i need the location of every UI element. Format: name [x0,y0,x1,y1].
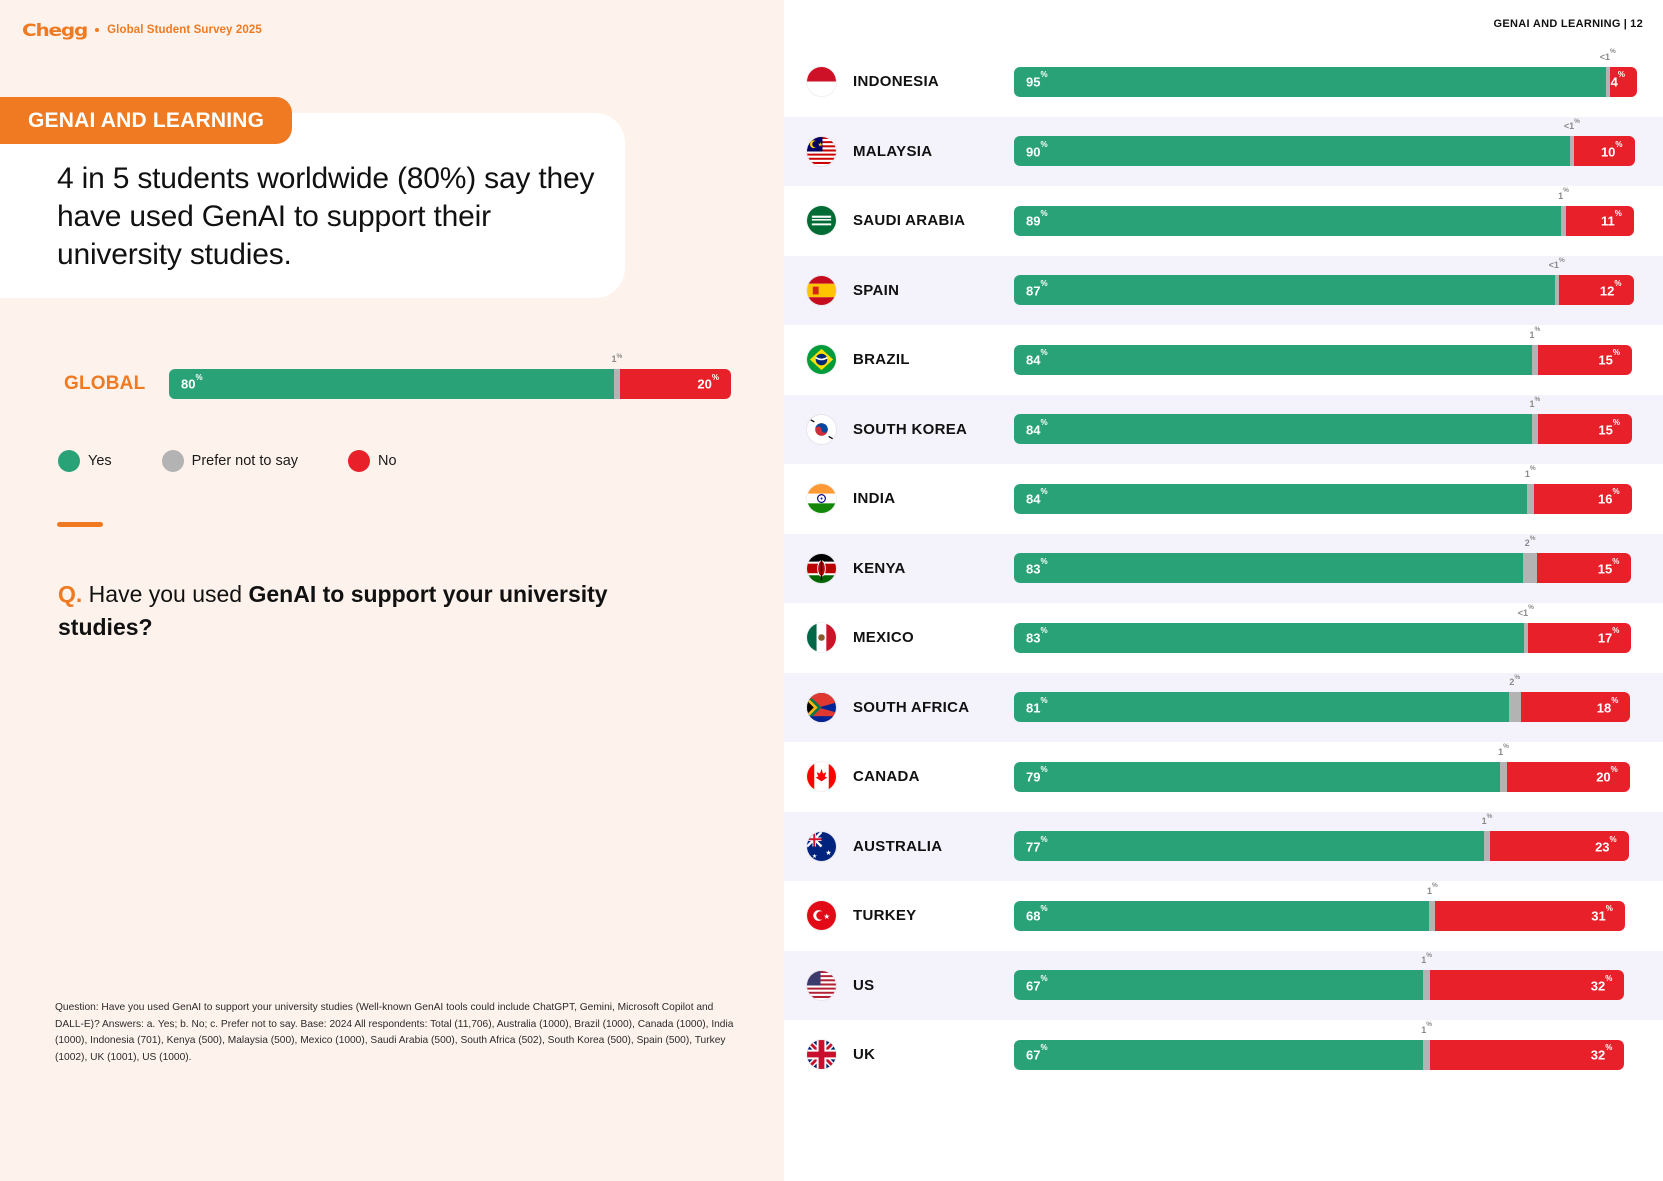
country-stacked-bar: 67% 32% [1014,1040,1624,1070]
flag-kenya-icon [807,554,836,583]
country-stacked-bar: 81% 18% [1014,692,1630,722]
slide-header: GENAI AND LEARNING|12 [1494,18,1643,30]
table-row: INDONESIA 95% 4% <1% [784,47,1663,117]
brand-row: Chegg Global Student Survey 2025 [22,18,262,42]
prefer-not-to-say-label: 1% [1530,398,1541,409]
global-segment-yes: 80% [169,369,614,399]
country-label: CANADA [853,768,920,785]
prefer-not-to-say-label: 2% [1525,537,1536,548]
yes-value: 81% [1014,700,1060,715]
prefer-not-to-say-label: <1% [1564,120,1580,131]
segment-no: 10% [1574,136,1635,166]
flag-south-africa-icon [807,693,836,722]
left-panel: Chegg Global Student Survey 2025 GENAI A… [0,0,784,1181]
country-label: INDONESIA [853,73,939,90]
yes-value: 84% [1014,422,1060,437]
country-label: SPAIN [853,282,899,299]
country-bar-area: 83% 15% 2% [1014,553,1637,583]
prefer-not-to-say-label: 1% [1530,329,1541,340]
yes-value: 67% [1014,1047,1060,1062]
legend: Yes Prefer not to say No [58,450,397,472]
slide-root: Chegg Global Student Survey 2025 GENAI A… [0,0,1663,1181]
country-bar-area: 67% 32% 1% [1014,1040,1637,1070]
yes-value: 90% [1014,144,1060,159]
legend-no: No [348,450,397,472]
country-bar-area: 68% 31% 1% [1014,901,1637,931]
country-stacked-bar: 84% 16% [1014,484,1632,514]
flag-mexico-icon [807,623,836,652]
country-label: TURKEY [853,907,916,924]
legend-prefer-not-to-say-swatch [162,450,184,472]
flag-canada-icon [807,762,836,791]
slide-page-number: 12 [1630,18,1643,30]
segment-yes: 84% [1014,345,1532,375]
country-bar-area: 67% 32% 1% [1014,970,1637,1000]
segment-prefer-not-to-say [1423,970,1430,1000]
country-bar-area: 77% 23% 1% [1014,831,1637,861]
yes-value: 83% [1014,630,1060,645]
no-value: 23% [1583,839,1629,854]
table-row: BRAZIL 84% 15% 1% [784,325,1663,395]
section-tag: GENAI AND LEARNING [0,97,292,144]
no-value: 31% [1579,908,1625,923]
segment-yes: 90% [1014,136,1570,166]
segment-prefer-not-to-say [1423,1040,1430,1070]
country-bar-area: 81% 18% 2% [1014,692,1637,722]
prefer-not-to-say-label: 1% [1498,746,1509,757]
table-row: UK 67% 32% 1% [784,1020,1663,1090]
segment-no: 16% [1534,484,1632,514]
legend-yes-label: Yes [88,453,112,469]
segment-no: 32% [1430,970,1624,1000]
flag-south-korea-icon [807,415,836,444]
country-bar-area: 87% 12% <1% [1014,275,1637,305]
legend-no-swatch [348,450,370,472]
segment-no: 12% [1559,275,1634,305]
no-value: 18% [1585,700,1631,715]
country-bar-area: 84% 15% 1% [1014,345,1637,375]
flag-spain-icon [807,276,836,305]
segment-prefer-not-to-say [1523,553,1537,583]
segment-no: 18% [1521,692,1631,722]
table-row: INDIA 84% 16% 1% [784,464,1663,534]
orange-divider-rule [57,522,103,527]
segment-no: 20% [1507,762,1630,792]
prefer-not-to-say-label: <1% [1518,607,1534,618]
legend-no-label: No [378,453,397,469]
segment-yes: 83% [1014,623,1524,653]
segment-prefer-not-to-say [1509,692,1521,722]
country-stacked-bar: 79% 20% [1014,762,1630,792]
country-bar-area: 90% 10% <1% [1014,136,1637,166]
no-value: 4% [1599,74,1637,89]
segment-no: 15% [1538,345,1632,375]
legend-yes: Yes [58,450,112,472]
country-stacked-bar: 83% 17% [1014,623,1631,653]
country-label: SOUTH AFRICA [853,699,969,716]
country-bar-area: 79% 20% 1% [1014,762,1637,792]
yes-value: 87% [1014,283,1060,298]
flag-australia-icon: ★★ [807,832,836,861]
yes-value: 67% [1014,978,1060,993]
global-prefer-not-to-say-label: 1% [612,353,623,364]
flag-turkey-icon: ★ [807,901,836,930]
segment-yes: 89% [1014,206,1561,236]
prefer-not-to-say-label: <1% [1549,259,1565,270]
no-value: 11% [1589,213,1634,228]
yes-value: 89% [1014,213,1060,228]
country-bar-area: 89% 11% 1% [1014,206,1637,236]
country-rows: INDONESIA 95% 4% <1% ★ MALAYSIA 90% 10% … [784,47,1663,1090]
country-label: INDIA [853,490,895,507]
right-panel: GENAI AND LEARNING|12 INDONESIA 95% 4% <… [784,0,1663,1181]
no-value: 12% [1588,283,1634,298]
table-row: ★ MALAYSIA 90% 10% <1% [784,117,1663,187]
segment-no: 23% [1490,831,1629,861]
global-no-value: 20% [685,376,731,391]
segment-yes: 84% [1014,414,1532,444]
country-label: MEXICO [853,629,914,646]
page-headline: 4 in 5 students worldwide (80%) say they… [57,160,602,274]
question-marker: Q. [58,581,82,607]
prefer-not-to-say-label: 1% [1421,954,1432,965]
brand-tagline: Global Student Survey 2025 [107,24,262,36]
prefer-not-to-say-label: 1% [1427,885,1438,896]
country-bar-area: 83% 17% <1% [1014,623,1637,653]
svg-text:★: ★ [818,141,823,148]
segment-yes: 77% [1014,831,1484,861]
table-row: SPAIN 87% 12% <1% [784,256,1663,326]
no-value: 20% [1584,769,1630,784]
prefer-not-to-say-label: 1% [1525,468,1536,479]
segment-no: 31% [1435,901,1624,931]
brand-separator-dot [95,28,99,32]
chegg-logo: Chegg [22,20,87,40]
segment-yes: 95% [1014,67,1606,97]
no-value: 15% [1586,561,1632,576]
country-label: SAUDI ARABIA [853,212,965,229]
svg-text:★: ★ [812,853,817,860]
prefer-not-to-say-label: 2% [1509,676,1520,687]
segment-yes: 67% [1014,1040,1423,1070]
no-value: 10% [1589,144,1635,159]
flag-indonesia-icon [807,67,836,96]
prefer-not-to-say-label: 1% [1482,815,1493,826]
prefer-not-to-say-label: <1% [1600,51,1616,62]
svg-text:★: ★ [823,912,830,921]
prefer-not-to-say-label: 1% [1421,1024,1432,1035]
no-value: 32% [1579,1047,1625,1062]
flag-saudi-arabia-icon [807,206,836,235]
legend-prefer-not-to-say: Prefer not to say [162,450,298,472]
segment-no: 32% [1430,1040,1624,1070]
global-stacked-bar: 80%20% [169,369,731,399]
country-stacked-bar: 89% 11% [1014,206,1634,236]
country-label: AUSTRALIA [853,838,942,855]
segment-no: 4% [1610,67,1637,97]
country-label: BRAZIL [853,351,910,368]
flag-us-icon [807,971,836,1000]
yes-value: 79% [1014,769,1060,784]
flag-uk-icon [807,1040,836,1069]
table-row: CANADA 79% 20% 1% [784,742,1663,812]
slide-header-separator: | [1624,18,1627,30]
flag-malaysia-icon: ★ [807,137,836,166]
table-row: SOUTH AFRICA 81% 18% 2% [784,673,1663,743]
table-row: MEXICO 83% 17% <1% [784,603,1663,673]
country-stacked-bar: 77% 23% [1014,831,1629,861]
yes-value: 84% [1014,352,1060,367]
no-value: 15% [1586,352,1632,367]
yes-value: 95% [1014,74,1060,89]
segment-prefer-not-to-say [1527,484,1534,514]
segment-no: 11% [1566,206,1634,236]
country-bar-area: 95% 4% <1% [1014,67,1637,97]
country-stacked-bar: 83% 15% [1014,553,1631,583]
slide-header-title: GENAI AND LEARNING [1494,18,1621,30]
footnote: Question: Have you used GenAI to support… [55,1000,735,1066]
segment-no: 15% [1538,414,1632,444]
table-row: KENYA 83% 15% 2% [784,534,1663,604]
country-label: UK [853,1046,875,1063]
legend-yes-swatch [58,450,80,472]
question-text-plain: Have you used [89,581,249,607]
table-row: ★★ AUSTRALIA 77% 23% 1% [784,812,1663,882]
country-label: MALAYSIA [853,143,932,160]
prefer-not-to-say-label: 1% [1558,190,1569,201]
yes-value: 68% [1014,908,1060,923]
table-row: ★ TURKEY 68% 31% 1% [784,881,1663,951]
flag-brazil-icon [807,345,836,374]
country-stacked-bar: 95% 4% [1014,67,1637,97]
country-stacked-bar: 87% 12% [1014,275,1634,305]
country-label: US [853,977,874,994]
global-label: GLOBAL [64,373,145,395]
segment-no: 17% [1528,623,1632,653]
country-stacked-bar: 90% 10% [1014,136,1635,166]
country-stacked-bar: 84% 15% [1014,345,1632,375]
segment-yes: 87% [1014,275,1555,305]
country-bar-area: 84% 16% 1% [1014,484,1637,514]
country-stacked-bar: 68% 31% [1014,901,1625,931]
country-stacked-bar: 84% 15% [1014,414,1632,444]
table-row: SOUTH KOREA 84% 15% 1% [784,395,1663,465]
no-value: 17% [1586,630,1632,645]
svg-text:★: ★ [825,849,831,857]
segment-yes: 83% [1014,553,1523,583]
country-label: SOUTH KOREA [853,421,967,438]
section-tag-label: GENAI AND LEARNING [28,109,264,133]
segment-yes: 84% [1014,484,1527,514]
segment-yes: 68% [1014,901,1429,931]
yes-value: 84% [1014,491,1060,506]
global-bar-group: GLOBAL 80%20% 1% [64,355,744,415]
yes-value: 77% [1014,839,1060,854]
yes-value: 83% [1014,561,1060,576]
country-bar-area: 84% 15% 1% [1014,414,1637,444]
no-value: 15% [1586,422,1632,437]
global-yes-value: 80% [169,376,215,391]
global-segment-no: 20% [620,369,731,399]
table-row: US 67% 32% 1% [784,951,1663,1021]
segment-no: 15% [1537,553,1631,583]
country-stacked-bar: 67% 32% [1014,970,1624,1000]
segment-yes: 79% [1014,762,1500,792]
no-value: 16% [1586,491,1632,506]
table-row: SAUDI ARABIA 89% 11% 1% [784,186,1663,256]
no-value: 32% [1579,978,1625,993]
question-block: Q. Have you used GenAI to support your u… [58,578,638,643]
legend-prefer-not-to-say-label: Prefer not to say [192,453,298,469]
flag-india-icon [807,484,836,513]
segment-yes: 67% [1014,970,1423,1000]
country-label: KENYA [853,560,906,577]
segment-yes: 81% [1014,692,1509,722]
